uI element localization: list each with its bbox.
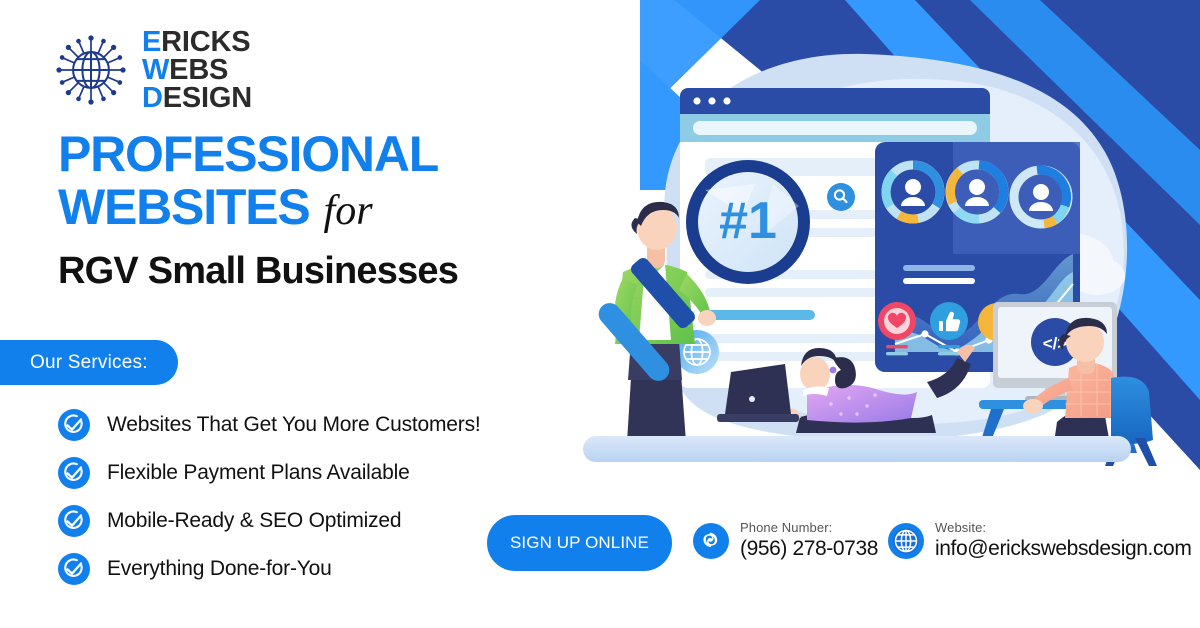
logo-line-3: DESIGN bbox=[142, 84, 252, 112]
browser-dot bbox=[708, 97, 715, 104]
list-item: Flexible Payment Plans Available bbox=[58, 454, 481, 492]
hero-illustration: </> bbox=[545, 22, 1165, 482]
headline-websites: WEBSITES bbox=[58, 181, 310, 234]
page-title: PROFESSIONAL WEBSITES for RGV Small Busi… bbox=[58, 128, 578, 293]
logo-line-2: WEBS bbox=[142, 56, 252, 84]
our-services-label: Our Services: bbox=[30, 352, 148, 374]
brand-wordmark: ERICKS WEBS DESIGN bbox=[142, 28, 252, 112]
our-services-banner: Our Services: bbox=[0, 340, 178, 385]
services-list: Websites That Get You More Customers! Fl… bbox=[58, 406, 481, 588]
headline-line-3: RGV Small Businesses bbox=[58, 250, 578, 293]
list-item-label: Everything Done-for-You bbox=[107, 557, 332, 581]
check-circle-icon bbox=[58, 457, 90, 489]
browser-dot bbox=[693, 97, 700, 104]
browser-dot bbox=[723, 97, 730, 104]
marketing-banner: ERICKS WEBS DESIGN PROFESSIONAL WEBSITES… bbox=[0, 0, 1200, 628]
check-circle-icon bbox=[58, 505, 90, 537]
headline-line-2: WEBSITES for bbox=[58, 181, 578, 234]
check-circle-icon bbox=[58, 553, 90, 585]
headline-for: for bbox=[324, 189, 373, 234]
logo-rest-esign: ESIGN bbox=[163, 82, 252, 114]
list-item: Websites That Get You More Customers! bbox=[58, 406, 481, 444]
brand-logo[interactable]: ERICKS WEBS DESIGN bbox=[52, 28, 252, 112]
globe-network-icon bbox=[52, 31, 130, 109]
website-value: info@erickswebsdesign.com bbox=[935, 537, 1191, 561]
magnifier-label: #1 bbox=[719, 192, 777, 250]
sign-up-online-button[interactable]: SIGN UP ONLINE bbox=[487, 515, 672, 571]
phone-label: Phone Number: bbox=[740, 521, 878, 536]
list-item: Everything Done-for-You bbox=[58, 550, 481, 588]
list-item-label: Mobile-Ready & SEO Optimized bbox=[107, 509, 401, 533]
logo-line-1: ERICKS bbox=[142, 28, 252, 56]
globe-icon bbox=[888, 523, 924, 559]
search-badge-icon bbox=[827, 183, 855, 211]
phone-value: (956) 278-0738 bbox=[740, 537, 878, 561]
headline-line-1: PROFESSIONAL bbox=[58, 128, 578, 181]
check-circle-icon bbox=[58, 409, 90, 441]
list-item-label: Websites That Get You More Customers! bbox=[107, 413, 481, 437]
ground-bar bbox=[583, 436, 1131, 462]
logo-cap-d: D bbox=[142, 82, 163, 114]
website-label: Website: bbox=[935, 521, 1191, 536]
contact-website[interactable]: Website: info@erickswebsdesign.com bbox=[888, 521, 1191, 561]
phone-icon bbox=[693, 523, 729, 559]
list-item-label: Flexible Payment Plans Available bbox=[107, 461, 410, 485]
list-item: Mobile-Ready & SEO Optimized bbox=[58, 502, 481, 540]
contact-phone[interactable]: Phone Number: (956) 278-0738 bbox=[693, 521, 878, 561]
